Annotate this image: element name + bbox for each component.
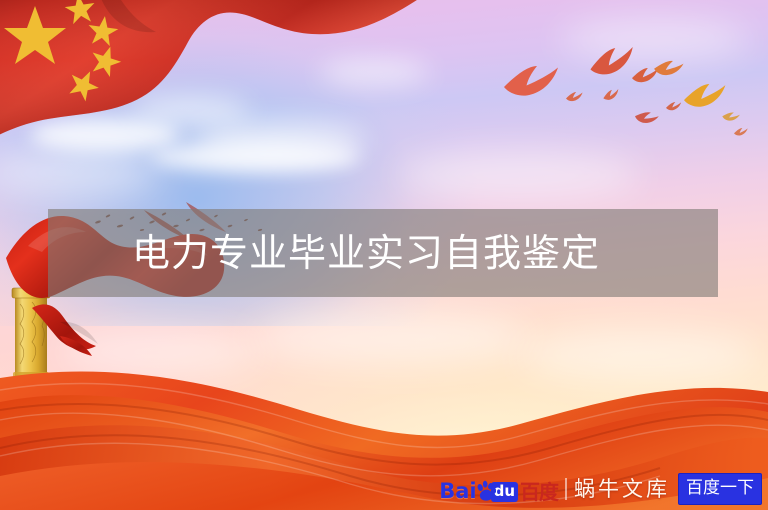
flying-birds xyxy=(470,40,768,180)
poster-canvas: 电力专业毕业实习自我鉴定 xyxy=(0,0,768,510)
baidu-paw-icon xyxy=(476,480,496,502)
chinese-flag xyxy=(0,0,420,198)
baidu-logo: Bai du 百度 xyxy=(439,476,558,502)
brand-name: 蜗牛文库 xyxy=(574,478,670,500)
baidu-search-button[interactable]: 百度一下 xyxy=(678,473,762,505)
watermark-divider xyxy=(565,478,567,500)
hero-title-bar: 电力专业毕业实习自我鉴定 xyxy=(48,209,718,297)
page-title: 电力专业毕业实习自我鉴定 xyxy=(48,234,600,272)
baidu-bai-text: Bai xyxy=(439,481,476,502)
watermark: Bai du 百度 蜗牛文库 百度一下 xyxy=(439,472,762,506)
baidu-chinese-text: 百度 xyxy=(520,482,558,502)
